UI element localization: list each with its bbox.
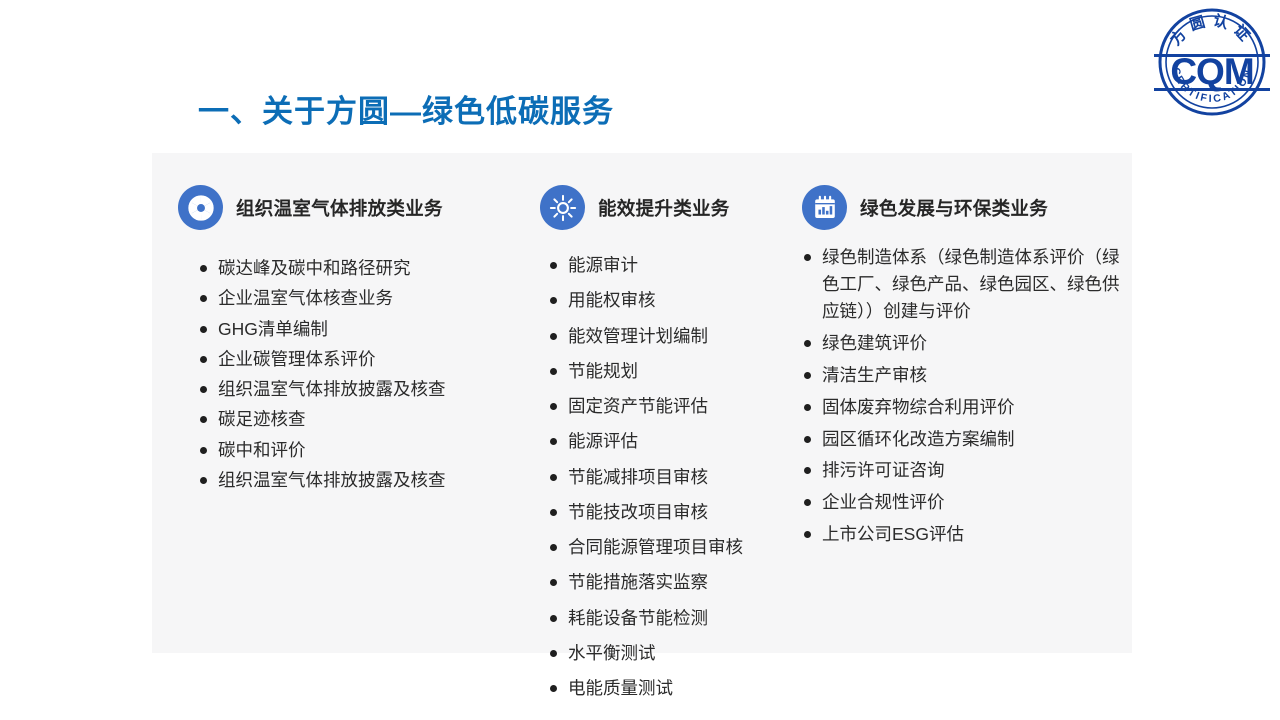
list-item: 碳中和评价 [200, 437, 520, 464]
list-item: 组织温室气体排放披露及核查 [200, 467, 520, 494]
list-item: 水平衡测试 [550, 640, 790, 667]
calendar-chart-icon [802, 185, 847, 230]
list-item: 绿色制造体系（绿色制造体系评价（绿色工厂、绿色产品、绿色园区、绿色供应链））创建… [804, 244, 1132, 325]
list-item: 节能技改项目审核 [550, 499, 790, 526]
column-title: 绿色发展与环保类业务 [860, 195, 1048, 221]
column-title: 能效提升类业务 [598, 195, 730, 221]
list-item: 能效管理计划编制 [550, 323, 790, 350]
list-item: 节能措施落实监察 [550, 569, 790, 596]
service-list: 碳达峰及碳中和路径研究 企业温室气体核查业务 GHG清单编制 企业碳管理体系评价… [178, 255, 520, 494]
column-header: 能效提升类业务 [540, 185, 790, 230]
service-list: 绿色制造体系（绿色制造体系评价（绿色工厂、绿色产品、绿色园区、绿色供应链））创建… [802, 244, 1132, 548]
column-header: 组织温室气体排放类业务 [178, 185, 520, 230]
list-item: 能源审计 [550, 252, 790, 279]
list-item: 节能规划 [550, 358, 790, 385]
list-item: 节能减排项目审核 [550, 464, 790, 491]
list-item: 用能权审核 [550, 287, 790, 314]
list-item: 碳达峰及碳中和路径研究 [200, 255, 520, 282]
list-item: 合同能源管理项目审核 [550, 534, 790, 561]
business-column-energy-efficiency: 能效提升类业务 能源审计 用能权审核 能效管理计划编制 节能规划 固定资产节能评… [520, 153, 790, 710]
column-header: 绿色发展与环保类业务 [802, 185, 1132, 230]
list-item: 固体废弃物综合利用评价 [804, 394, 1132, 421]
service-list: 能源审计 用能权审核 能效管理计划编制 节能规划 固定资产节能评估 能源评估 节… [540, 252, 790, 702]
logo-main-text: CQM [1170, 51, 1253, 92]
list-item: 耗能设备节能检测 [550, 605, 790, 632]
list-item: 组织温室气体排放披露及核查 [200, 376, 520, 403]
list-item: 上市公司ESG评估 [804, 521, 1132, 548]
business-column-greenhouse-gas: 组织温室气体排放类业务 碳达峰及碳中和路径研究 企业温室气体核查业务 GHG清单… [152, 153, 520, 497]
list-item: 企业碳管理体系评价 [200, 346, 520, 373]
cqm-certification-logo: 方圆认证 CERTIFICATION CQM [1152, 2, 1272, 122]
business-column-green-development: 绿色发展与环保类业务 绿色制造体系（绿色制造体系评价（绿色工厂、绿色产品、绿色园… [790, 153, 1132, 553]
list-item: 排污许可证咨询 [804, 457, 1132, 484]
page-title: 一、关于方圆—绿色低碳服务 [198, 93, 614, 130]
list-item: 能源评估 [550, 428, 790, 455]
content-panel: 组织温室气体排放类业务 碳达峰及碳中和路径研究 企业温室气体核查业务 GHG清单… [152, 153, 1132, 653]
list-item: 企业合规性评价 [804, 489, 1132, 516]
column-title: 组织温室气体排放类业务 [236, 195, 443, 221]
aperture-icon [178, 185, 223, 230]
sun-icon [540, 185, 585, 230]
list-item: 园区循环化改造方案编制 [804, 426, 1132, 453]
list-item: GHG清单编制 [200, 316, 520, 343]
business-columns: 组织温室气体排放类业务 碳达峰及碳中和路径研究 企业温室气体核查业务 GHG清单… [152, 153, 1132, 653]
list-item: 固定资产节能评估 [550, 393, 790, 420]
list-item: 清洁生产审核 [804, 362, 1132, 389]
list-item: 电能质量测试 [550, 675, 790, 702]
list-item: 绿色建筑评价 [804, 330, 1132, 357]
list-item: 碳足迹核查 [200, 406, 520, 433]
list-item: 企业温室气体核查业务 [200, 285, 520, 312]
